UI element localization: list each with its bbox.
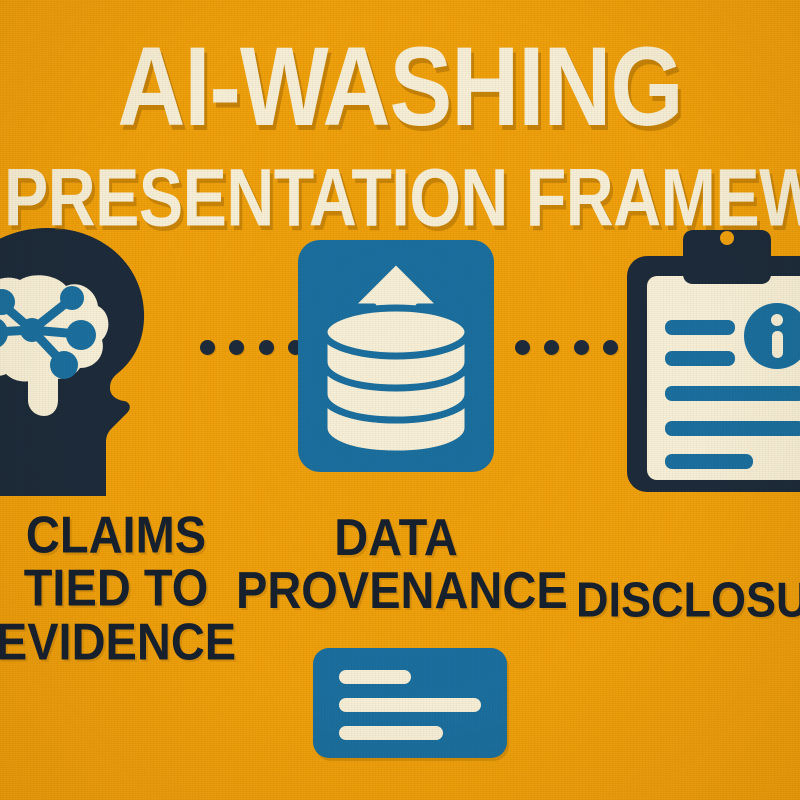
step-label-claims: CLAIMS TIED TO EVIDENCE <box>0 509 246 669</box>
poster-canvas: AI-WASHING PRESENTATION FRAMEWORK <box>0 0 800 800</box>
step-label-data-provenance: DATA PROVENANCE <box>236 511 556 617</box>
step-label-disclosure: DISCLOSURE <box>576 575 800 626</box>
step-labels: CLAIMS TIED TO EVIDENCE DATA PROVENANCE … <box>0 0 800 800</box>
